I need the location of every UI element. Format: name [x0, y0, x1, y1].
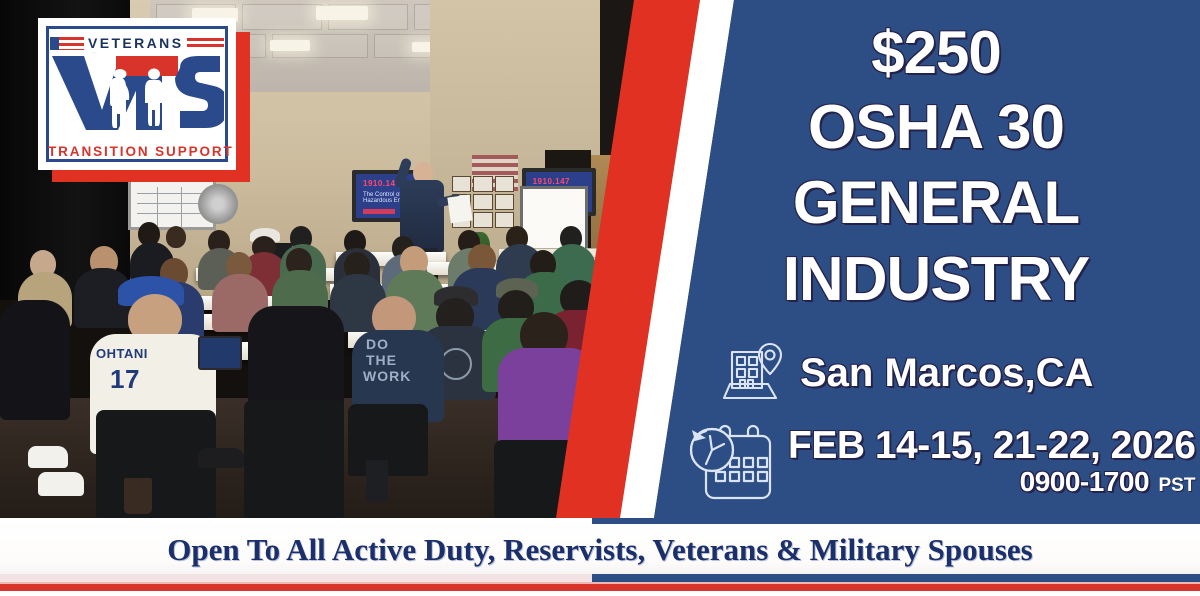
instructor-handout — [447, 195, 472, 224]
attendee-head — [166, 226, 186, 248]
course-line-3: GENERAL — [680, 168, 1192, 237]
schedule-row: FEB 14-15, 21-22, 2026 0900-1700 PST — [686, 418, 1200, 510]
calendar-clock-icon — [686, 424, 780, 509]
course-line-4: INDUSTRY — [680, 244, 1192, 315]
logo-top-label: VETERANS — [88, 35, 183, 51]
time-block: 0900-1700 PST — [1020, 466, 1196, 498]
footer-banner: Open To All Active Duty, Reservists, Vet… — [0, 518, 1200, 596]
logo-monogram-svg — [50, 54, 224, 132]
location-label: San Marcos,CA — [800, 351, 1093, 396]
photo-tablet — [198, 336, 242, 370]
logo-card: VETERANS — [38, 18, 236, 170]
info-panel-content: $250 OSHA 30 GENERAL INDUSTRY — [680, 0, 1200, 518]
vts-logo: VETERANS — [38, 18, 250, 182]
photo-shoe — [198, 448, 244, 468]
us-flag-icon — [50, 37, 84, 50]
photo-water-bottle — [366, 460, 388, 502]
attendee-torso — [0, 300, 70, 420]
flag-stripes-icon — [187, 38, 224, 49]
eligibility-label: Open To All Active Duty, Reservists, Vet… — [0, 522, 1200, 578]
logo-bottom-label: TRANSITION SUPPORT — [48, 144, 226, 159]
dates-label: FEB 14-15, 21-22, 2026 — [788, 424, 1195, 468]
photo-coffee-cup — [124, 478, 152, 514]
slide-title-right: 1910.147 — [533, 177, 570, 186]
price-label: $250 — [680, 18, 1192, 87]
logo-top-row: VETERANS — [50, 31, 224, 55]
shirt-text-line-2: THE — [366, 354, 397, 367]
jersey-name: OHTANI — [96, 346, 148, 361]
photo-chair — [348, 404, 428, 476]
course-label: OSHA 30 — [680, 92, 1192, 163]
footer-red-bar — [0, 584, 1200, 591]
photo-shoe — [28, 446, 68, 468]
event-poster: 1910.147 The Control of Hazardous Energy… — [0, 0, 1200, 596]
shirt-text-line-1: DO — [366, 338, 389, 351]
shirt-text-line-3: WORK — [363, 370, 411, 383]
time-label: 0900-1700 — [1020, 466, 1149, 497]
timezone-label: PST — [1158, 475, 1195, 496]
jersey-number: 17 — [110, 364, 140, 395]
shirt-logo-icon — [440, 348, 472, 380]
photo-pedestal-fan — [198, 184, 238, 224]
schedule-text-block: FEB 14-15, 21-22, 2026 0900-1700 PST — [788, 418, 1195, 498]
logo-monogram-area — [50, 54, 224, 132]
location-row: San Marcos,CA — [718, 336, 1198, 410]
building-location-pin-icon — [718, 340, 786, 407]
photo-shoe — [38, 472, 84, 496]
photo-chair — [244, 400, 344, 518]
